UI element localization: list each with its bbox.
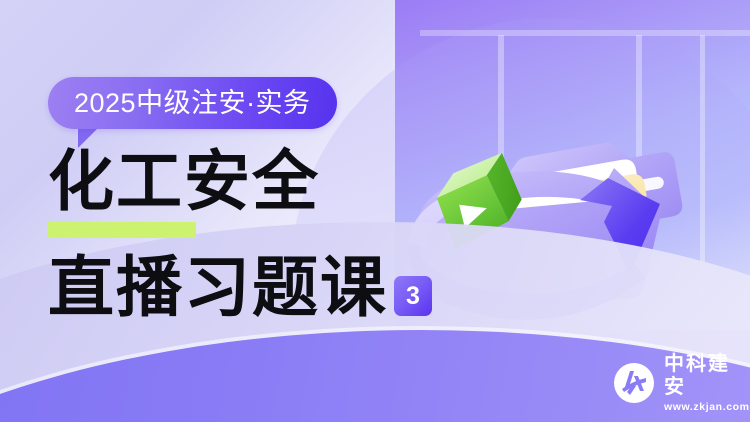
course-banner: 2025中级注安·实务 化工安全 直播习题课 3 中科建安 www.zkjan.… — [0, 0, 750, 422]
episode-number-badge: 3 — [394, 276, 432, 316]
badge-pill-tail — [78, 126, 100, 148]
brand-url: www.zkjan.com — [664, 401, 750, 414]
title-highlight-bar — [48, 222, 196, 238]
course-category-badge: 2025中级注安·实务 — [48, 77, 337, 129]
brand-name: 中科建安 — [664, 353, 750, 399]
zkjan-circle-logo-icon — [613, 362, 655, 404]
course-category-label: 2025中级注安·实务 — [74, 90, 311, 117]
headline-line-1: 化工安全 — [48, 150, 448, 216]
brand-logo: 中科建安 www.zkjan.com — [613, 353, 750, 414]
headline-block: 化工安全 — [48, 150, 448, 216]
brand-logo-text: 中科建安 www.zkjan.com — [664, 353, 750, 414]
headline-line-2-row: 直播习题课 3 — [48, 256, 432, 322]
headline-line-2: 直播习题课 — [48, 256, 388, 322]
